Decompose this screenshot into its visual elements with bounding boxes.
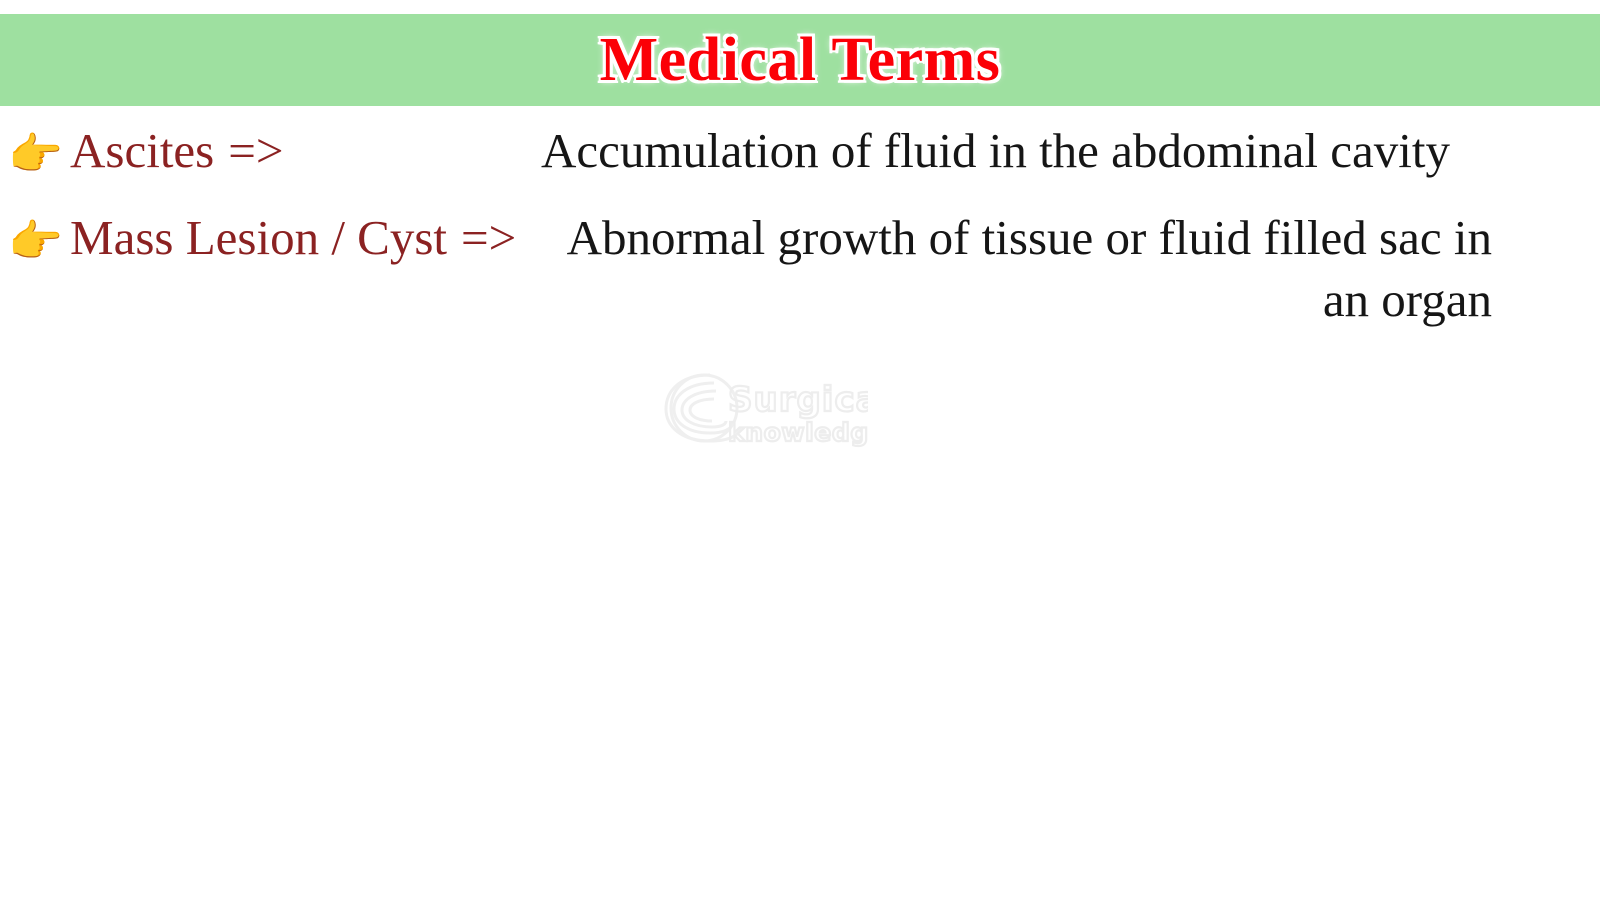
watermark-line-2: knowledge bbox=[728, 418, 868, 447]
terms-list: 👉 Ascites=>Accumulation of fluid in the … bbox=[0, 106, 1600, 332]
watermark-logo: Surgical knowledge bbox=[652, 367, 868, 453]
term-definition: Abnormal growth of tissue or fluid fille… bbox=[567, 210, 1492, 328]
pointing-hand-emoji: 👉 bbox=[8, 133, 70, 177]
slide-canvas: Medical Terms 👉 Ascites=>Accumulation of… bbox=[0, 0, 1600, 900]
term-definition-line: Ascites=>Accumulation of fluid in the ab… bbox=[70, 120, 1450, 183]
list-item: 👉 Ascites=>Accumulation of fluid in the … bbox=[0, 106, 1600, 183]
term-name: Mass Lesion / Cyst bbox=[70, 207, 447, 270]
term-definition-line: Mass Lesion / Cyst=>Abnormal growth of t… bbox=[70, 207, 1492, 332]
page-title: Medical Terms bbox=[600, 29, 1001, 91]
term-name: Ascites bbox=[70, 120, 214, 183]
list-item: 👉 Mass Lesion / Cyst=>Abnormal growth of… bbox=[0, 183, 1600, 332]
pointing-hand-emoji: 👉 bbox=[8, 220, 70, 264]
term-arrow: => bbox=[447, 207, 516, 270]
term-arrow: => bbox=[214, 120, 283, 183]
title-banner: Medical Terms bbox=[0, 14, 1600, 106]
watermark-monogram-icon bbox=[666, 375, 740, 441]
term-definition: Accumulation of fluid in the abdominal c… bbox=[541, 123, 1450, 178]
watermark-line-1: Surgical bbox=[728, 380, 868, 420]
